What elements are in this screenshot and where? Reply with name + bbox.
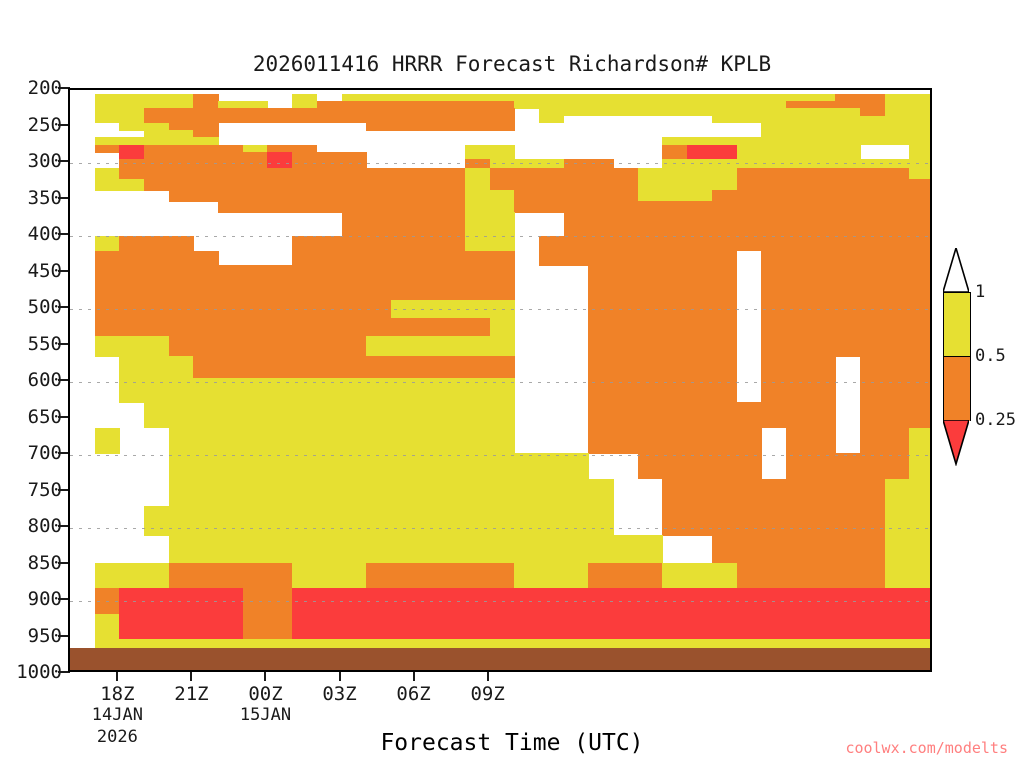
x-tick-label: 09Z (470, 683, 504, 705)
y-tick-label: 500 (28, 296, 62, 318)
colorbar (943, 292, 969, 484)
colorbar-segment-mid (943, 356, 971, 421)
heatmap-cell (539, 236, 932, 251)
heatmap-cell (169, 563, 293, 589)
heatmap-cell (119, 236, 194, 251)
heatmap-cells (70, 90, 930, 670)
heatmap-cell (588, 265, 737, 282)
x-tick-label: 00Z (248, 683, 282, 705)
heatmap-cell (761, 318, 932, 337)
heatmap-cell (885, 479, 932, 507)
colorbar-arrow-outline-low (943, 420, 969, 466)
heatmap-cell (292, 614, 932, 640)
heatmap-cell (588, 378, 737, 402)
heatmap-cell (514, 190, 638, 202)
y-tick-label: 300 (28, 150, 62, 172)
heatmap-cell (662, 506, 885, 536)
heatmap-cell (761, 300, 932, 319)
heatmap-cell (465, 168, 490, 180)
heatmap-cell (95, 336, 170, 357)
heatmap-cell (638, 190, 713, 202)
heatmap-cell (366, 563, 515, 589)
heatmap-cell (95, 236, 120, 251)
heatmap-cell (662, 479, 885, 507)
x-tick (487, 672, 489, 681)
heatmap-cell (761, 378, 836, 402)
heatmap-cell (169, 453, 589, 479)
heatmap-cell (712, 190, 932, 202)
heatmap-cell (95, 588, 120, 614)
heatmap-cell (193, 356, 515, 379)
heatmap-cell (391, 300, 515, 319)
heatmap-cell (514, 201, 932, 213)
heatmap-cell (95, 145, 120, 153)
heatmap-cell (144, 506, 614, 536)
credit-watermark: coolwx.com/modelts (845, 739, 1008, 757)
heatmap-cell (144, 402, 515, 428)
y-tick-label: 900 (28, 588, 62, 610)
heatmap-plot (68, 88, 932, 672)
y-tick-label: 950 (28, 625, 62, 647)
heatmap-cell (119, 588, 243, 614)
y-tick-label: 600 (28, 369, 62, 391)
heatmap-cell (218, 201, 465, 213)
heatmap-cell (761, 282, 932, 301)
y-tick-label: 650 (28, 406, 62, 428)
heatmap-cell (761, 356, 836, 379)
heatmap-cell (588, 563, 663, 589)
heatmap-cell (588, 318, 737, 337)
heatmap-cell (465, 223, 515, 236)
heatmap-cell (292, 588, 932, 614)
heatmap-cell (366, 336, 515, 357)
heatmap-cell (95, 563, 170, 589)
heatmap-cell (490, 179, 639, 191)
heatmap-cell (465, 201, 515, 213)
x-tick-label: 21Z (174, 683, 208, 705)
heatmap-cell (539, 116, 564, 124)
heatmap-cell (95, 282, 515, 301)
heatmap-cell (588, 402, 835, 428)
heatmap-cell (490, 168, 639, 180)
x-tick-date: 14JAN (92, 705, 143, 725)
x-tick-date: 15JAN (240, 705, 291, 725)
heatmap-cell (169, 479, 614, 507)
heatmap-cell (588, 300, 737, 319)
heatmap-cell (243, 614, 293, 640)
heatmap-cell (761, 265, 932, 282)
x-tick (264, 672, 266, 681)
heatmap-cell (786, 428, 836, 454)
heatmap-cell (366, 123, 515, 131)
y-tick-label: 850 (28, 552, 62, 574)
heatmap-cell (95, 300, 392, 319)
x-tick-label: 06Z (396, 683, 430, 705)
heatmap-cell (465, 190, 515, 202)
colorbar-arrow-outline-high (943, 248, 969, 292)
page-title: 2026011416 HRRR Forecast Richardson# KPL… (0, 52, 1024, 76)
heatmap-cell (909, 453, 932, 479)
heatmap-cell (638, 179, 737, 191)
heatmap-cell (737, 563, 886, 589)
heatmap-cell (292, 563, 367, 589)
heatmap-cell (95, 179, 145, 191)
x-tick (190, 672, 192, 681)
heatmap-cell (95, 614, 120, 640)
colorbar-segment-high (943, 292, 971, 357)
heatmap-cell (737, 168, 910, 180)
heatmap-cell (588, 356, 737, 379)
heatmap-cell (564, 223, 932, 236)
heatmap-cell (465, 236, 515, 251)
heatmap-cell (638, 453, 762, 479)
heatmap-cell (885, 535, 932, 563)
y-tick-label: 450 (28, 260, 62, 282)
heatmap-cell (885, 506, 932, 536)
heatmap-cell (761, 336, 932, 357)
heatmap-cell (490, 318, 515, 337)
y-tick-label: 700 (28, 442, 62, 464)
heatmap-cell (761, 251, 932, 266)
heatmap-cell (144, 179, 466, 191)
y-tick-label: 1000 (16, 661, 62, 683)
heatmap-cell (564, 212, 932, 224)
y-tick-label: 400 (28, 223, 62, 245)
heatmap-cell (514, 563, 589, 589)
heatmap-cell (95, 251, 219, 266)
heatmap-cell (95, 168, 120, 180)
heatmap-cell (588, 336, 737, 357)
heatmap-cell (292, 236, 465, 251)
heatmap-cell (95, 318, 491, 337)
y-tick-label: 800 (28, 515, 62, 537)
heatmap-cell (169, 535, 663, 563)
x-tick-label: 03Z (322, 683, 356, 705)
heatmap-cell (119, 378, 515, 402)
heatmap-cell (119, 168, 465, 180)
y-tick-label: 250 (28, 114, 62, 136)
heatmap-cell (638, 168, 737, 180)
colorbar-label: 0.5 (975, 346, 1006, 366)
heatmap-cell (909, 428, 932, 454)
heatmap-cell (860, 378, 932, 402)
heatmap-cell (95, 265, 515, 282)
y-tick-label: 750 (28, 479, 62, 501)
heatmap-cell (243, 588, 293, 614)
heatmap-cell (169, 190, 466, 202)
heatmap-cell (588, 282, 737, 301)
heatmap-cell (860, 356, 932, 379)
heatmap-cell (119, 614, 243, 640)
x-tick (413, 672, 415, 681)
x-tick-label: 18Z (100, 683, 134, 705)
y-tick-label: 350 (28, 187, 62, 209)
colorbar-label: 1 (975, 282, 985, 302)
x-tick (339, 672, 341, 681)
heatmap-cell (342, 212, 466, 224)
heatmap-cell (169, 428, 515, 454)
heatmap-cell (662, 563, 737, 589)
y-tick-label: 200 (28, 77, 62, 99)
heatmap-cell (860, 428, 910, 454)
colorbar-label: 0.25 (975, 410, 1016, 430)
heatmap-cell (737, 179, 933, 191)
heatmap-cell (465, 212, 515, 224)
heatmap-cell (588, 428, 761, 454)
heatmap-cell (885, 563, 932, 589)
heatmap-cell (712, 535, 885, 563)
heatmap-cell (909, 168, 932, 180)
heatmap-cell (539, 251, 737, 266)
heatmap-cell (95, 428, 120, 454)
heatmap-cell (292, 251, 515, 266)
heatmap-cell (786, 453, 910, 479)
heatmap-cell (860, 402, 932, 428)
heatmap-cell (342, 223, 466, 236)
heatmap-cell (465, 179, 490, 191)
heatmap-cell (169, 336, 367, 357)
x-tick (116, 672, 118, 681)
terrain-band (70, 648, 930, 672)
heatmap-cell (119, 356, 194, 379)
y-tick-label: 550 (28, 333, 62, 355)
